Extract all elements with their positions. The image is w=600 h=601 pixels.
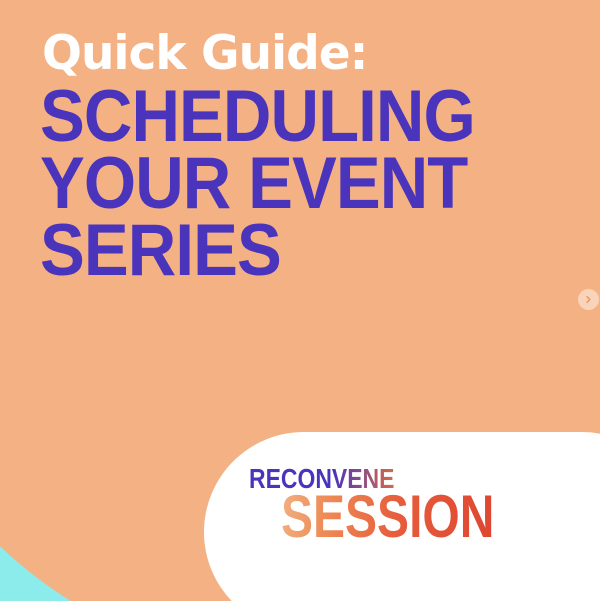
headline-line-2: YOUR EVENT — [40, 150, 445, 217]
kicker-text: Quick Guide: — [42, 30, 480, 77]
next-slide-button[interactable] — [578, 289, 599, 310]
chevron-right-icon — [584, 295, 593, 304]
headline-line-1: SCHEDULING — [40, 83, 445, 150]
headline-block: Quick Guide: SCHEDULING YOUR EVENT SERIE… — [40, 30, 480, 284]
carousel-slide: Quick Guide: SCHEDULING YOUR EVENT SERIE… — [0, 0, 600, 601]
headline-line-3: SERIES — [40, 217, 445, 284]
brand-logo: RECONVENE SESSIONS — [249, 465, 549, 544]
logo-word-sessions: SESSIONS — [281, 489, 495, 544]
